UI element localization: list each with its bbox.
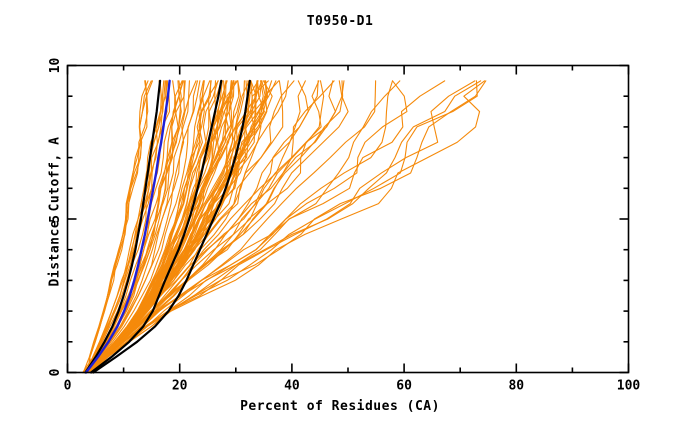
figure-canvas: T0950-D1 Distance Cutoff, A 020406080100…: [0, 0, 680, 440]
x-tick-label: 80: [508, 379, 524, 394]
x-tick-label: 100: [617, 379, 641, 394]
prediction-curve: [90, 81, 486, 373]
prediction-curve: [92, 81, 485, 373]
x-tick-label: 60: [396, 379, 412, 394]
x-tick-label: 40: [284, 379, 300, 394]
x-tick-label: 0: [64, 379, 72, 394]
y-tick-label: 0: [48, 368, 63, 376]
y-tick-label: 10: [48, 58, 63, 74]
x-tick-label: 20: [172, 379, 188, 394]
prediction-curves-group: [83, 81, 486, 373]
plot-svg: 0204060801000510: [0, 0, 680, 440]
y-tick-label: 5: [48, 215, 63, 223]
x-axis-label: Percent of Residues (CA): [0, 399, 680, 414]
